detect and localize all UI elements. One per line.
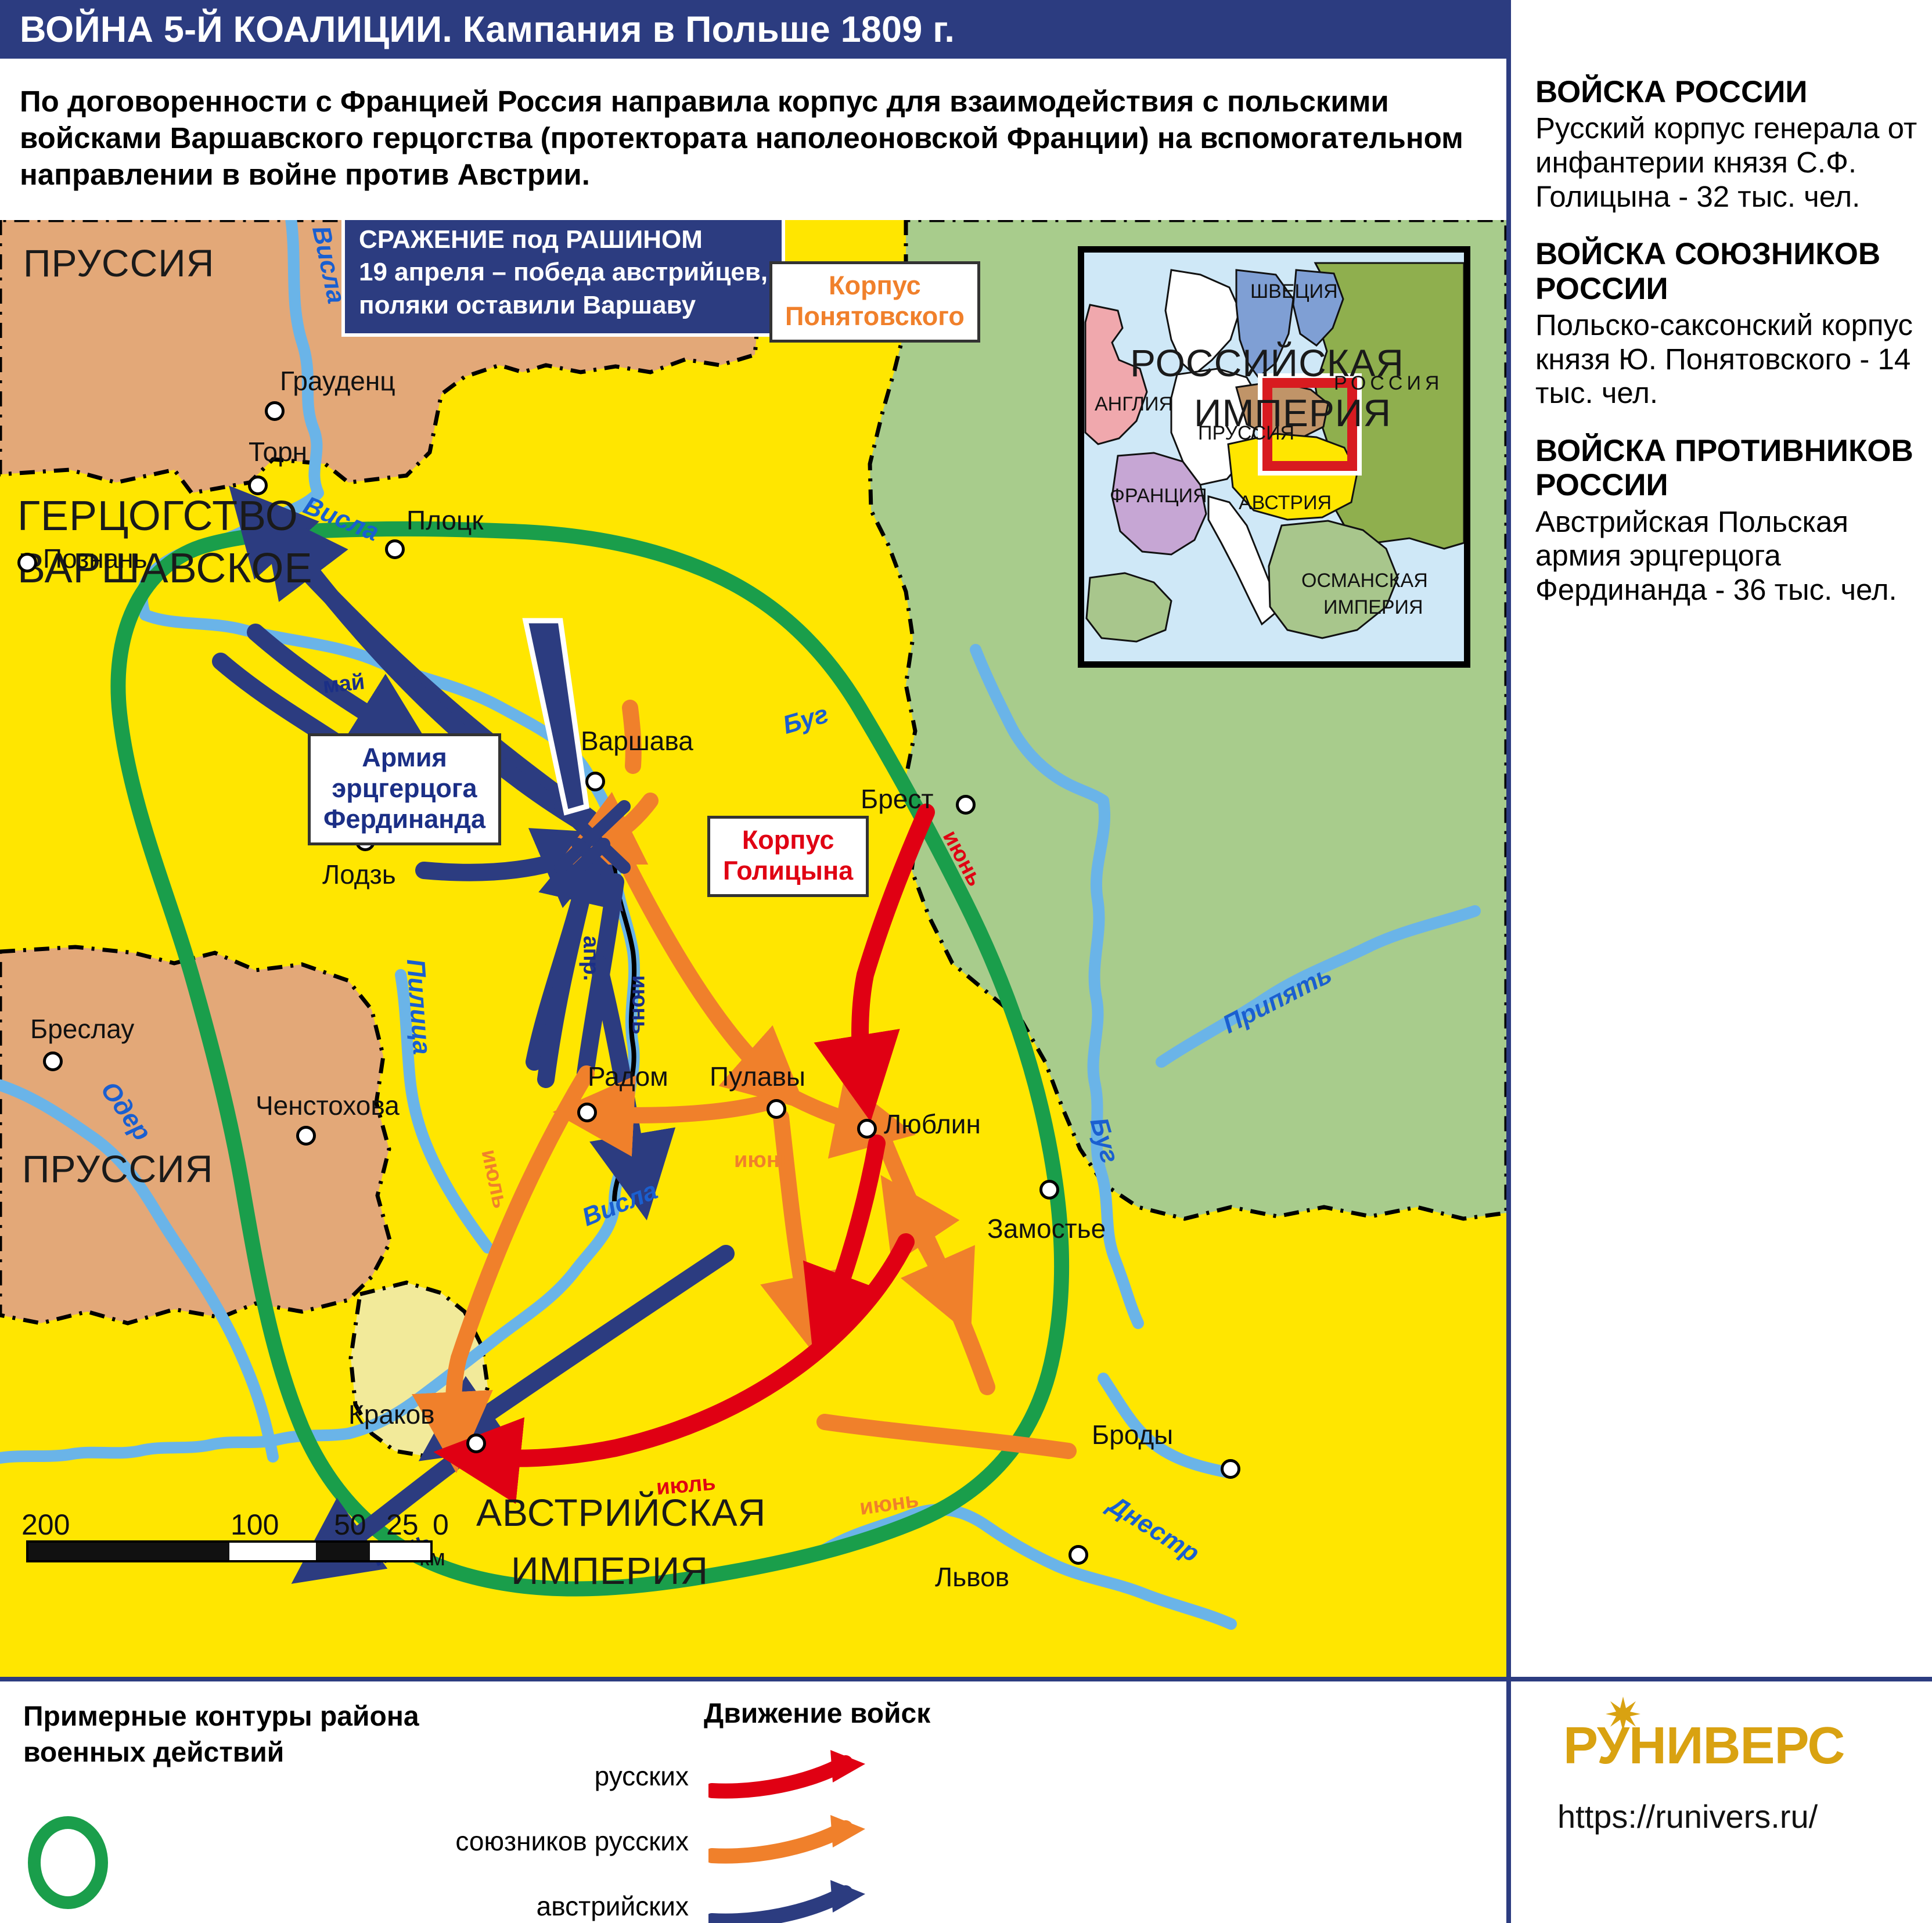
month-label-apr: апр. bbox=[578, 936, 603, 981]
troops-sidebar: ВОЙСКА РОССИИ Русский корпус генерала от… bbox=[1511, 59, 1932, 1677]
scale-bar: 200 100 50 25 0 bbox=[26, 1508, 433, 1562]
page-title: ВОЙНА 5-Й КОАЛИЦИИ. Кампания в Польше 18… bbox=[0, 9, 955, 51]
city-dot-graudenz[interactable] bbox=[265, 401, 285, 421]
box-ferdinand-line-1: Армия bbox=[323, 742, 485, 773]
city-label-warsaw: Варшава bbox=[581, 725, 693, 757]
city-label-brest: Брест bbox=[861, 783, 933, 815]
legend-title-outline: Примерные контуры района военных действи… bbox=[23, 1699, 465, 1771]
inset-label-france: ФРАНЦИЯ bbox=[1110, 485, 1207, 507]
horizontal-divider bbox=[0, 1677, 1932, 1681]
month-label-may: май bbox=[322, 669, 366, 698]
country-label-austria-line2: ИМПЕРИЯ bbox=[511, 1550, 708, 1593]
legend-title-outline-line2: военных действий bbox=[23, 1735, 465, 1771]
inset-label-ottoman-2: ИМПЕРИЯ bbox=[1323, 596, 1423, 619]
city-dot-poznan[interactable] bbox=[17, 553, 37, 572]
city-label-graudenz: Грауденц bbox=[280, 365, 395, 397]
country-label-prussia-south: ПРУССИЯ bbox=[22, 1148, 213, 1191]
sidebar-body-enemies: Австрийская Польская армия эрцгерцога Фе… bbox=[1535, 505, 1918, 607]
legend-label-russian: русских bbox=[436, 1760, 708, 1792]
city-label-lvov: Львов bbox=[935, 1561, 1009, 1593]
country-label-austria-line1: АВСТРИЙСКАЯ bbox=[476, 1492, 766, 1535]
city-dot-breslau[interactable] bbox=[43, 1051, 63, 1071]
callout-line-2: 19 апреля – победа австрийцев, bbox=[359, 256, 768, 289]
city-dot-pulawy[interactable] bbox=[767, 1099, 786, 1119]
inset-label-sweden: ШВЕЦИЯ bbox=[1250, 280, 1338, 303]
legend-label-austrian: австрийских bbox=[436, 1890, 708, 1922]
city-label-torn: Торн bbox=[249, 436, 307, 467]
branding-block: РУНИВЕРС https://runivers.ru/ bbox=[1511, 1684, 1932, 1923]
callout-line-1: СРАЖЕНИЕ под РАШИНОМ bbox=[359, 224, 768, 256]
inset-label-ottoman-1: ОСМАНСКАЯ bbox=[1301, 570, 1428, 592]
scale-tick-labels: 200 100 50 25 0 bbox=[26, 1508, 433, 1540]
city-label-pulawy: Пулавы bbox=[710, 1061, 805, 1092]
inset-europe-map: ШВЕЦИЯ РОССИЯ АНГЛИЯ ПРУССИЯ ФРАНЦИЯ АВС… bbox=[1078, 246, 1470, 668]
legend-arrow-austrian-icon bbox=[708, 1880, 883, 1923]
city-dot-torn[interactable] bbox=[248, 476, 268, 495]
box-golitsyn-line-2: Голицына bbox=[723, 855, 853, 886]
scale-tick-100: 100 bbox=[231, 1508, 279, 1542]
scale-bar-graphic bbox=[26, 1540, 433, 1562]
city-dot-chenstohova[interactable] bbox=[296, 1126, 316, 1146]
runivers-logo-text: РУНИВЕРС bbox=[1563, 1716, 1844, 1776]
scale-seg-1 bbox=[28, 1543, 229, 1560]
month-label-july-red: июль bbox=[655, 1471, 717, 1501]
city-label-brody: Броды bbox=[1092, 1419, 1173, 1450]
country-label-russia-line1: РОССИЙСКАЯ bbox=[1130, 342, 1404, 385]
month-label-june-blue: июнь bbox=[627, 975, 652, 1034]
sidebar-body-russia: Русский корпус генерала от инфантерии кн… bbox=[1535, 111, 1918, 214]
city-dot-lvov[interactable] bbox=[1068, 1545, 1088, 1565]
legend-outline-ellipse-icon bbox=[28, 1816, 108, 1909]
sidebar-block-russia: ВОЙСКА РОССИИ Русский корпус генерала от… bbox=[1535, 75, 1918, 214]
legend-row-russian: русских bbox=[436, 1750, 883, 1802]
city-dot-brest[interactable] bbox=[956, 795, 976, 815]
box-army-ferdinand: Армия эрцгерцога Фердинанда bbox=[308, 733, 501, 845]
sidebar-heading-enemies: ВОЙСКА ПРОТИВНИКОВ РОССИИ bbox=[1535, 434, 1918, 503]
intro-block: По договоренности с Францией Россия напр… bbox=[0, 59, 1510, 220]
city-dot-krakow[interactable] bbox=[466, 1434, 486, 1453]
title-bar: ВОЙНА 5-Й КОАЛИЦИИ. Кампания в Польше 18… bbox=[0, 0, 1510, 59]
box-corps-poniatowski: Корпус Понятовского bbox=[769, 261, 980, 343]
city-dot-zamostye[interactable] bbox=[1039, 1180, 1059, 1200]
city-dot-plotsk[interactable] bbox=[385, 539, 405, 559]
sidebar-block-allies: ВОЙСКА СОЮЗНИКОВ РОССИИ Польско-саксонск… bbox=[1535, 237, 1918, 410]
legend-title-movement: Движение войск bbox=[704, 1698, 930, 1730]
scale-seg-2 bbox=[229, 1543, 316, 1560]
legend-row-allied: союзников русских bbox=[436, 1815, 883, 1867]
city-dot-warsaw[interactable] bbox=[585, 772, 605, 791]
legend-arrow-russian-icon bbox=[708, 1750, 883, 1802]
inset-label-austria: АВСТРИЯ bbox=[1239, 492, 1332, 514]
sidebar-block-enemies: ВОЙСКА ПРОТИВНИКОВ РОССИИ Австрийская По… bbox=[1535, 434, 1918, 607]
city-dot-radom[interactable] bbox=[577, 1103, 597, 1122]
legend-label-allied: союзников русских bbox=[436, 1825, 708, 1857]
legend-arrow-allied-icon bbox=[708, 1815, 883, 1867]
city-label-radom: Радом bbox=[588, 1061, 668, 1092]
box-golitsyn-line-1: Корпус bbox=[723, 824, 853, 855]
scale-seg-3 bbox=[316, 1543, 370, 1560]
city-label-zamostye: Замостье bbox=[987, 1213, 1106, 1244]
sidebar-body-allies: Польско-саксонский корпус князя Ю. Понят… bbox=[1535, 308, 1918, 410]
intro-text: По договоренности с Францией Россия напр… bbox=[20, 83, 1487, 193]
box-ferdinand-line-2: эрцгерцога bbox=[323, 773, 485, 804]
box-ferdinand-line-3: Фердинанда bbox=[323, 804, 485, 834]
city-label-krakow: Краков bbox=[348, 1399, 435, 1430]
scale-tick-25: 25 bbox=[386, 1508, 419, 1542]
inset-label-england: АНГЛИЯ bbox=[1095, 393, 1173, 416]
runivers-url-link[interactable]: https://runivers.ru/ bbox=[1557, 1798, 1818, 1835]
city-label-poznan: Познань bbox=[43, 543, 147, 574]
country-label-prussia-north: ПРУССИЯ bbox=[23, 242, 214, 285]
callout-line-3: поляки оставили Варшаву bbox=[359, 289, 768, 322]
city-label-chenstohova: Ченстохова bbox=[256, 1090, 400, 1121]
city-label-breslau: Бреслау bbox=[30, 1013, 134, 1045]
box-poniatowski-line-2: Понятовского bbox=[785, 301, 965, 332]
legend-panel: Примерные контуры района военных действи… bbox=[0, 1681, 1506, 1923]
month-label-june-orange-1: июнь bbox=[734, 1148, 793, 1173]
scale-tick-50: 50 bbox=[334, 1508, 366, 1542]
sidebar-heading-russia: ВОЙСКА РОССИИ bbox=[1535, 75, 1918, 109]
city-label-lublin: Люблин bbox=[884, 1108, 981, 1140]
sidebar-heading-allies: ВОЙСКА СОЮЗНИКОВ РОССИИ bbox=[1535, 237, 1918, 306]
city-dot-lublin[interactable] bbox=[857, 1119, 877, 1139]
scale-tick-0: 0 bbox=[433, 1508, 449, 1542]
callout-battle-raszyn: СРАЖЕНИЕ под РАШИНОМ 19 апреля – победа … bbox=[341, 220, 785, 337]
box-poniatowski-line-1: Корпус bbox=[785, 270, 965, 301]
map-poster: ВОЙНА 5-Й КОАЛИЦИИ. Кампания в Польше 18… bbox=[0, 0, 1932, 1923]
scale-tick-200: 200 bbox=[21, 1508, 70, 1542]
legend-title-outline-line1: Примерные контуры района bbox=[23, 1699, 465, 1735]
city-label-lodz: Лодзь bbox=[322, 859, 396, 890]
country-label-russia-line2: ИМПЕРИЯ bbox=[1194, 392, 1391, 435]
country-label-duchy-line1: ГЕРЦОГСТВО bbox=[17, 493, 298, 540]
scale-seg-4 bbox=[370, 1543, 430, 1560]
box-corps-golitsyn: Корпус Голицына bbox=[707, 816, 869, 897]
vertical-divider bbox=[1506, 0, 1511, 1923]
legend-row-austrian: австрийских bbox=[436, 1880, 883, 1923]
city-label-plotsk: Плоцк bbox=[406, 505, 483, 536]
city-dot-brody[interactable] bbox=[1221, 1459, 1240, 1479]
